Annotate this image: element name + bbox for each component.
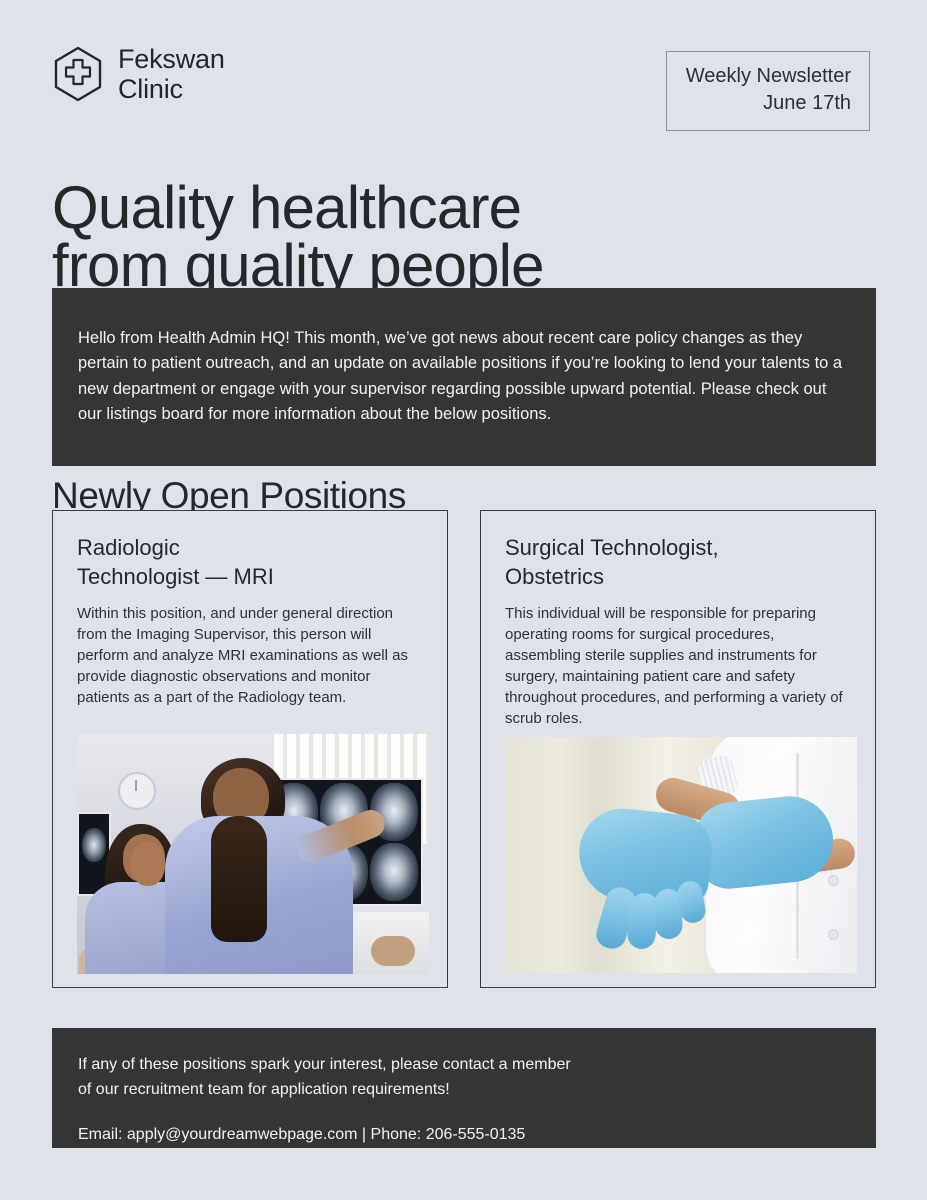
intro-text: Hello from Health Admin HQ! This month, … — [78, 326, 846, 428]
page-header: Fekswan Clinic Weekly Newsletter June 17… — [52, 44, 875, 128]
position-card[interactable]: Surgical Technologist, Obstetrics This i… — [480, 510, 876, 988]
position-title: Surgical Technologist, Obstetrics — [505, 533, 851, 591]
newsletter-badge: Weekly Newsletter June 17th — [666, 51, 870, 131]
position-description: This individual will be responsible for … — [505, 603, 851, 729]
newsletter-page: Fekswan Clinic Weekly Newsletter June 17… — [0, 0, 927, 1200]
brand-name: Fekswan Clinic — [118, 44, 225, 104]
page-title: Quality healthcare from quality people — [52, 179, 544, 295]
brand-lockup: Fekswan Clinic — [52, 44, 225, 104]
position-photo-mri — [77, 734, 429, 974]
newsletter-badge-date: June 17th — [685, 90, 851, 117]
position-description: Within this position, and under general … — [77, 603, 423, 708]
position-card[interactable]: Radiologic Technologist — MRI Within thi… — [52, 510, 448, 988]
newsletter-badge-title: Weekly Newsletter — [685, 63, 851, 90]
intro-block: Hello from Health Admin HQ! This month, … — [52, 288, 876, 466]
footer-contact-text: Email: apply@yourdreamwebpage.com | Phon… — [78, 1124, 846, 1146]
positions-list: Radiologic Technologist — MRI Within thi… — [52, 510, 876, 988]
footer-contact-block: If any of these positions spark your int… — [52, 1028, 876, 1148]
footer-lead-text: If any of these positions spark your int… — [78, 1052, 846, 1102]
position-title: Radiologic Technologist — MRI — [77, 533, 423, 591]
position-photo-gloves — [505, 737, 857, 973]
hexagon-medical-cross-icon — [52, 46, 104, 102]
